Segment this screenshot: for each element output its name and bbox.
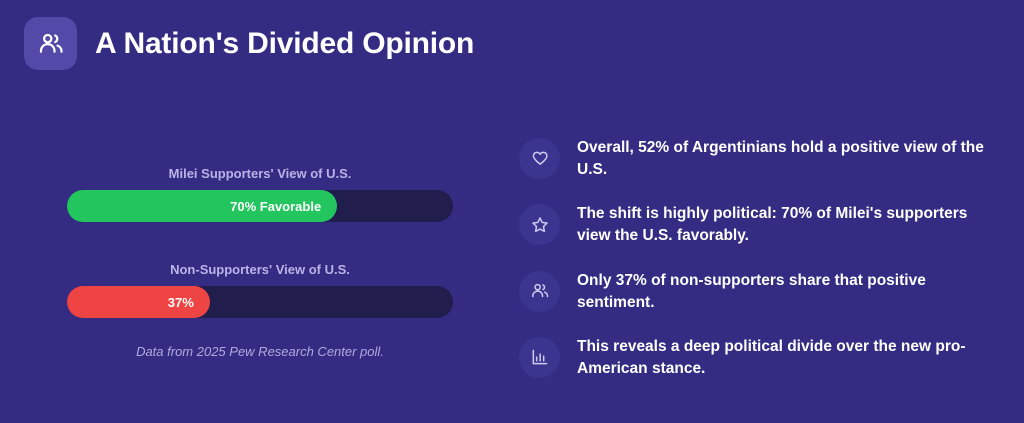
insight-text: Only 37% of non-supporters share that po… [577,270,1001,314]
star-icon [530,215,550,235]
bar-track-nonsupporters: 37% [67,286,453,318]
insight-item: Only 37% of non-supporters share that po… [519,270,1009,314]
bar-fill-nonsupporters: 37% [67,286,210,318]
insight-badge [519,204,560,245]
chart-source-caption: Data from 2025 Pew Research Center poll. [67,344,453,359]
bar-value-nonsupporters: 37% [168,295,194,310]
insight-badge [519,138,560,179]
users-icon [530,281,550,301]
insights-list: Overall, 52% of Argentinians hold a posi… [519,137,1009,380]
users-icon [37,30,65,58]
bar-label-nonsupporters: Non-Supporters' View of U.S. [67,262,453,277]
insight-badge [519,271,560,312]
header-icon-box [24,17,77,70]
bar-label-supporters: Milei Supporters' View of U.S. [67,166,453,181]
insight-item: Overall, 52% of Argentinians hold a posi… [519,137,1009,181]
insight-item: The shift is highly political: 70% of Mi… [519,203,1009,247]
bar-track-supporters: 70% Favorable [67,190,453,222]
insight-text: Overall, 52% of Argentinians hold a posi… [577,137,1001,181]
bar-chart-icon [530,347,550,367]
page-title: A Nation's Divided Opinion [95,27,474,61]
bar-chart-panel: Milei Supporters' View of U.S. 70% Favor… [67,166,453,359]
bar-fill-supporters: 70% Favorable [67,190,337,222]
insight-item: This reveals a deep political divide ove… [519,336,1009,380]
insight-text: This reveals a deep political divide ove… [577,336,1001,380]
heart-icon [530,149,550,169]
page-header: A Nation's Divided Opinion [24,17,474,70]
bar-group-supporters: Milei Supporters' View of U.S. 70% Favor… [67,166,453,222]
bar-group-nonsupporters: Non-Supporters' View of U.S. 37% [67,262,453,318]
insight-badge [519,337,560,378]
bar-value-supporters: 70% Favorable [230,199,321,214]
insight-text: The shift is highly political: 70% of Mi… [577,203,1001,247]
